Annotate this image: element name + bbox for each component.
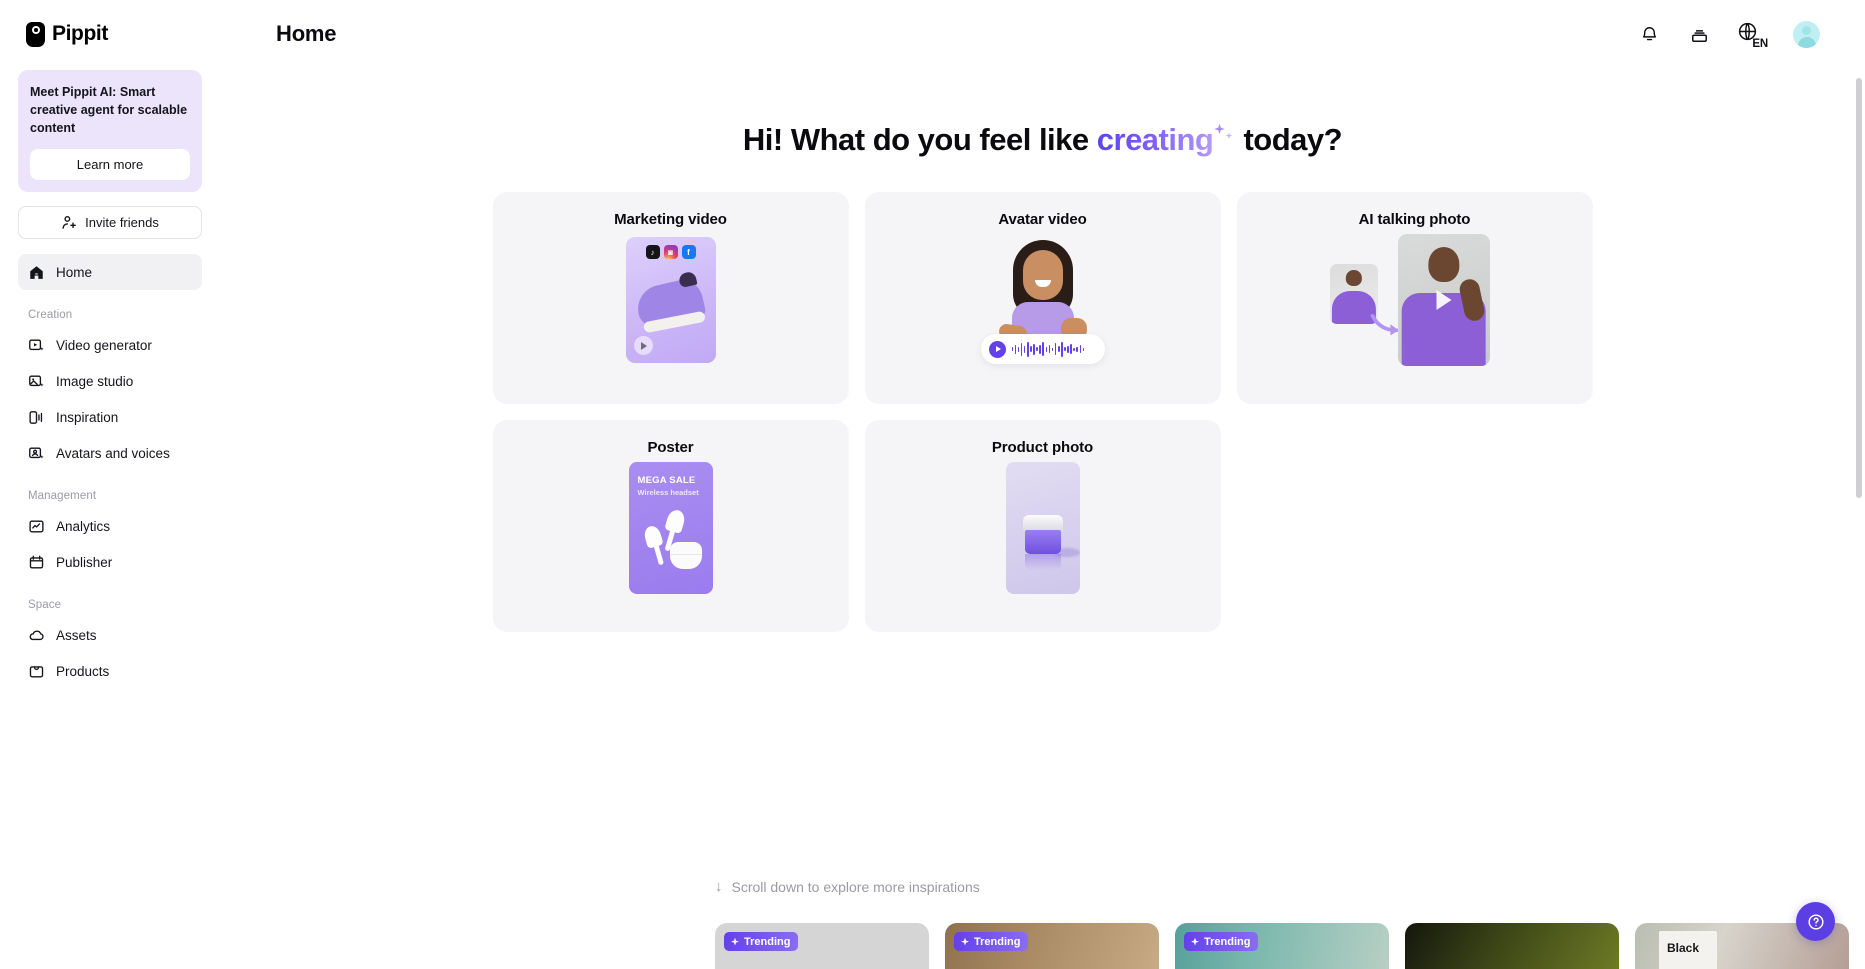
avatar[interactable]	[1793, 21, 1820, 48]
language-button[interactable]: EN	[1737, 21, 1767, 47]
heading-highlight: creating	[1097, 122, 1214, 157]
card-ai-talking-photo[interactable]: AI talking photo	[1237, 192, 1593, 404]
card-title: Marketing video	[493, 192, 849, 228]
home-icon	[28, 264, 45, 281]
card-marketing-video[interactable]: Marketing video ♪ ◙ f	[493, 192, 849, 404]
sidebar-item-label: Publisher	[56, 555, 112, 570]
chart-icon	[28, 518, 45, 535]
promo-card: Meet Pippit AI: Smart creative agent for…	[18, 70, 202, 192]
scroll-down-hint[interactable]: ↓ Scroll down to explore more inspiratio…	[715, 878, 980, 895]
sidebar-item-label: Assets	[56, 628, 97, 643]
language-code: EN	[1752, 38, 1768, 50]
arrow-down-icon: ↓	[715, 878, 723, 895]
ai-talking-photo-thumbnail	[1330, 234, 1500, 366]
status-badge: Trending	[724, 932, 798, 951]
badge-label: Trending	[744, 936, 790, 948]
tiktok-icon: ♪	[646, 245, 660, 259]
heading-suffix: today?	[1235, 122, 1342, 157]
card-title: Poster	[493, 420, 849, 456]
sidebar-item-products[interactable]: Products	[18, 653, 202, 689]
sidebar-nav: Home Creation Video generator Imag	[18, 254, 202, 689]
waveform-bars	[1012, 341, 1085, 358]
image-sparkle-icon	[28, 373, 45, 390]
main-content: Home	[220, 0, 1865, 969]
scrollbar-track[interactable]	[1853, 0, 1865, 969]
sidebar-item-label: Inspiration	[56, 410, 118, 425]
sidebar-item-publisher[interactable]: Publisher	[18, 544, 202, 580]
status-badge: Trending	[1184, 932, 1258, 951]
scroll-hint-label: Scroll down to explore more inspirations	[732, 879, 980, 895]
social-icons-row: ♪ ◙ f	[646, 245, 696, 259]
man-head	[1345, 270, 1361, 286]
card-avatar-video[interactable]: Avatar video	[865, 192, 1221, 404]
bell-icon	[1640, 25, 1659, 44]
sidebar-item-image-studio[interactable]: Image studio	[18, 363, 202, 399]
poster-subline: Wireless headset	[638, 488, 699, 497]
play-icon	[989, 341, 1006, 358]
overlay-text: Black	[1667, 941, 1699, 955]
badge-label: Trending	[974, 936, 1020, 948]
sparkle-icon	[1213, 122, 1235, 123]
sidebar-item-inspiration[interactable]: Inspiration	[18, 399, 202, 435]
topbar: Home	[220, 0, 1865, 68]
sparkle-icon	[1190, 937, 1200, 947]
card-poster[interactable]: Poster MEGA SALE Wireless headset	[493, 420, 849, 632]
page-title: Home	[276, 21, 336, 47]
notifications-button[interactable]	[1637, 22, 1661, 46]
promo-text: Meet Pippit AI: Smart creative agent for…	[30, 83, 190, 137]
heading-prefix: Hi! What do you feel like	[743, 122, 1097, 157]
marketing-video-thumbnail: ♪ ◙ f	[626, 237, 716, 363]
subscription-button[interactable]	[1687, 22, 1711, 46]
facebook-icon: f	[682, 245, 696, 259]
bag-icon	[28, 663, 45, 680]
earbud-left	[664, 508, 686, 534]
creation-cards-grid: Marketing video ♪ ◙ f Avatar video	[493, 192, 1593, 632]
brand-logo[interactable]: Pippit	[18, 0, 202, 68]
sidebar-item-video-generator[interactable]: Video generator	[18, 327, 202, 363]
hero-section: Hi! What do you feel like creating today…	[220, 122, 1865, 158]
scrollbar-thumb[interactable]	[1856, 78, 1862, 498]
phone-bars-icon	[28, 409, 45, 426]
trending-card[interactable]	[1405, 923, 1619, 969]
sidebar-item-avatars-and-voices[interactable]: Avatars and voices	[18, 435, 202, 471]
status-badge: Trending	[954, 932, 1028, 951]
card-product-photo[interactable]: Product photo	[865, 420, 1221, 632]
trending-card[interactable]: Trending	[945, 923, 1159, 969]
poster-headline: MEGA SALE	[638, 475, 696, 486]
black-friday-note: Black	[1659, 931, 1717, 969]
sidebar: Pippit Meet Pippit AI: Smart creative ag…	[0, 0, 220, 969]
pippit-logo-icon	[26, 22, 45, 47]
sparkle-small-icon	[1225, 132, 1233, 140]
sidebar-item-label: Avatars and voices	[56, 446, 170, 461]
sidebar-item-label: Analytics	[56, 519, 110, 534]
card-title: AI talking photo	[1237, 192, 1593, 228]
app-root: Pippit Meet Pippit AI: Smart creative ag…	[0, 0, 1865, 969]
sparkle-icon	[960, 937, 970, 947]
jar-reflection	[1025, 554, 1061, 570]
trending-card[interactable]: Trending	[715, 923, 929, 969]
trending-card[interactable]: Trending	[1175, 923, 1389, 969]
trending-strip: Trending Trending Trending Black	[715, 923, 1849, 969]
card-stack-icon	[1690, 25, 1709, 44]
brand-name: Pippit	[52, 22, 108, 46]
video-sparkle-icon	[28, 337, 45, 354]
sidebar-group-creation: Creation	[18, 309, 202, 321]
sidebar-item-home[interactable]: Home	[18, 254, 202, 290]
topbar-actions: EN	[1637, 21, 1825, 48]
sneaker-image	[633, 276, 706, 330]
play-icon	[1436, 290, 1451, 310]
sidebar-item-label: Products	[56, 664, 109, 679]
poster-thumbnail: MEGA SALE Wireless headset	[629, 462, 713, 594]
instagram-icon: ◙	[664, 245, 678, 259]
sidebar-group-management: Management	[18, 490, 202, 502]
earbud-case	[670, 542, 702, 569]
product-photo-thumbnail	[1006, 462, 1080, 594]
sparkle-icon	[730, 937, 740, 947]
sidebar-item-label: Video generator	[56, 338, 152, 353]
sidebar-item-assets[interactable]: Assets	[18, 617, 202, 653]
avatar-sparkle-icon	[28, 445, 45, 462]
card-title: Avatar video	[865, 192, 1221, 228]
sidebar-item-label: Image studio	[56, 374, 133, 389]
learn-more-button[interactable]: Learn more	[30, 149, 190, 180]
page-heading: Hi! What do you feel like creating today…	[743, 122, 1342, 158]
earbud-right	[642, 524, 663, 549]
help-button[interactable]	[1796, 902, 1835, 941]
calendar-icon	[28, 554, 45, 571]
audio-waveform-bar	[981, 334, 1105, 364]
cloud-icon	[28, 627, 45, 644]
invite-friends-label: Invite friends	[85, 215, 159, 230]
person-add-icon	[61, 214, 78, 231]
generated-video	[1398, 234, 1490, 366]
sidebar-item-label: Home	[56, 265, 92, 280]
sidebar-item-analytics[interactable]: Analytics	[18, 508, 202, 544]
sidebar-group-space: Space	[18, 599, 202, 611]
jar-body	[1025, 530, 1061, 554]
invite-friends-button[interactable]: Invite friends	[18, 206, 202, 239]
avatar-video-thumbnail	[979, 240, 1107, 360]
presenter-face	[1023, 250, 1063, 300]
question-circle-icon	[1806, 912, 1826, 932]
man-head	[1428, 247, 1459, 281]
badge-label: Trending	[1204, 936, 1250, 948]
card-title: Product photo	[865, 420, 1221, 456]
play-icon	[634, 336, 653, 355]
